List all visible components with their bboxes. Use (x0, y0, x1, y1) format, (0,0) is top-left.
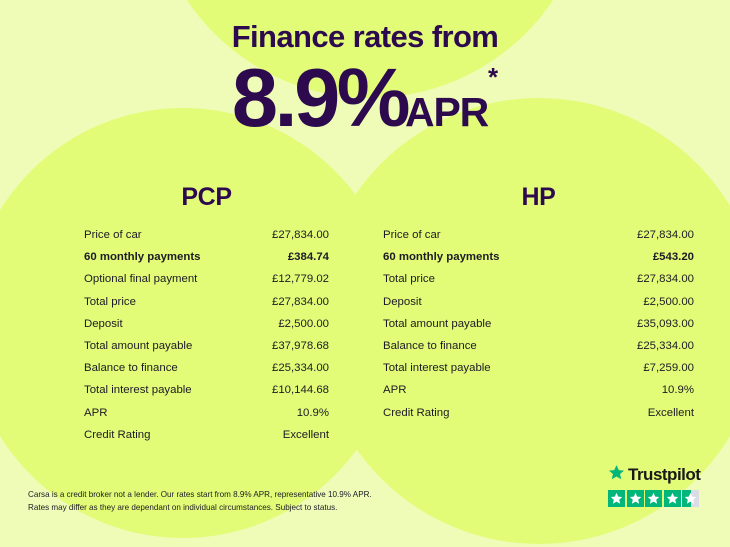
rate-value: 8.9% (232, 56, 407, 139)
finance-row: Total interest payable£7,259.00 (383, 357, 694, 379)
rows-hp: Price of car£27,834.0060 monthly payment… (383, 224, 694, 424)
headline-rate: 8.9% APR * (0, 56, 730, 139)
row-value: £7,259.00 (643, 357, 694, 379)
row-label: APR (84, 402, 107, 424)
finance-row: Credit RatingExcellent (84, 424, 329, 446)
row-label: Total interest payable (84, 379, 192, 401)
finance-column-hp: HP Price of car£27,834.0060 monthly paym… (365, 183, 730, 446)
finance-row: Total price£27,834.00 (383, 268, 694, 290)
row-value: £384.74 (288, 246, 329, 268)
row-value: Excellent (283, 424, 329, 446)
row-label: Total amount payable (84, 335, 192, 357)
disclaimer: Carsa is a credit broker not a lender. O… (28, 489, 448, 514)
row-label: Deposit (383, 291, 422, 313)
row-value: £27,834.00 (272, 291, 329, 313)
finance-row: Total interest payable£10,144.68 (84, 379, 329, 401)
row-label: Balance to finance (383, 335, 477, 357)
star-filled-icon (608, 490, 625, 507)
finance-row: Balance to finance£25,334.00 (383, 335, 694, 357)
star-filled-icon (627, 490, 644, 507)
row-value: £2,500.00 (643, 291, 694, 313)
trustpilot-widget[interactable]: Trustpilot (608, 464, 700, 507)
row-label: 60 monthly payments (84, 246, 200, 268)
row-label: Credit Rating (84, 424, 150, 446)
finance-row: Optional final payment£12,779.02 (84, 268, 329, 290)
row-label: Price of car (84, 224, 142, 246)
finance-row: Price of car£27,834.00 (84, 224, 329, 246)
row-value: £2,500.00 (278, 313, 329, 335)
finance-row: Deposit£2,500.00 (84, 313, 329, 335)
column-title-pcp: PCP (84, 183, 329, 212)
row-label: Optional final payment (84, 268, 197, 290)
rate-asterisk: * (488, 64, 498, 90)
star-filled-icon (664, 490, 681, 507)
star-icon (608, 464, 625, 486)
row-label: Total price (383, 268, 435, 290)
row-value: £35,093.00 (637, 313, 694, 335)
finance-row: 60 monthly payments£384.74 (84, 246, 329, 268)
row-label: Price of car (383, 224, 441, 246)
row-value: £37,978.68 (272, 335, 329, 357)
row-value: £27,834.00 (637, 268, 694, 290)
trustpilot-name: Trustpilot (628, 465, 700, 485)
trustpilot-wordmark: Trustpilot (608, 464, 700, 486)
row-value: 10.9% (297, 402, 329, 424)
finance-row: Balance to finance£25,334.00 (84, 357, 329, 379)
row-label: Total price (84, 291, 136, 313)
finance-column-pcp: PCP Price of car£27,834.0060 monthly pay… (0, 183, 365, 446)
finance-row: Total price£27,834.00 (84, 291, 329, 313)
finance-row: Deposit£2,500.00 (383, 291, 694, 313)
row-label: Balance to finance (84, 357, 178, 379)
finance-row: Total amount payable£37,978.68 (84, 335, 329, 357)
row-label: Credit Rating (383, 402, 449, 424)
finance-row: Price of car£27,834.00 (383, 224, 694, 246)
disclaimer-line-1: Carsa is a credit broker not a lender. O… (28, 489, 448, 502)
column-title-hp: HP (383, 183, 694, 212)
finance-row: APR10.9% (84, 402, 329, 424)
row-value: £543.20 (653, 246, 694, 268)
star-half-icon (682, 490, 699, 507)
row-value: £12,779.02 (272, 268, 329, 290)
trustpilot-star-rating (608, 490, 700, 507)
page-title: Finance rates from (0, 0, 730, 54)
row-value: £27,834.00 (637, 224, 694, 246)
row-label: 60 monthly payments (383, 246, 499, 268)
row-value: £25,334.00 (272, 357, 329, 379)
rate-unit: APR (405, 92, 488, 133)
row-value: £10,144.68 (272, 379, 329, 401)
row-value: £25,334.00 (637, 335, 694, 357)
row-label: Deposit (84, 313, 123, 335)
finance-row: 60 monthly payments£543.20 (383, 246, 694, 268)
promo-banner: Finance rates from 8.9% APR * PCP Price … (0, 0, 730, 547)
finance-row: Credit RatingExcellent (383, 402, 694, 424)
row-label: APR (383, 379, 406, 401)
row-label: Total interest payable (383, 357, 491, 379)
row-value: £27,834.00 (272, 224, 329, 246)
rows-pcp: Price of car£27,834.0060 monthly payment… (84, 224, 329, 446)
finance-row: APR10.9% (383, 379, 694, 401)
star-filled-icon (645, 490, 662, 507)
row-label: Total amount payable (383, 313, 491, 335)
finance-comparison: PCP Price of car£27,834.0060 monthly pay… (0, 183, 730, 446)
disclaimer-line-2: Rates may differ as they are dependant o… (28, 502, 448, 515)
header: Finance rates from 8.9% APR * (0, 0, 730, 139)
row-value: 10.9% (662, 379, 694, 401)
row-value: Excellent (648, 402, 694, 424)
finance-row: Total amount payable£35,093.00 (383, 313, 694, 335)
